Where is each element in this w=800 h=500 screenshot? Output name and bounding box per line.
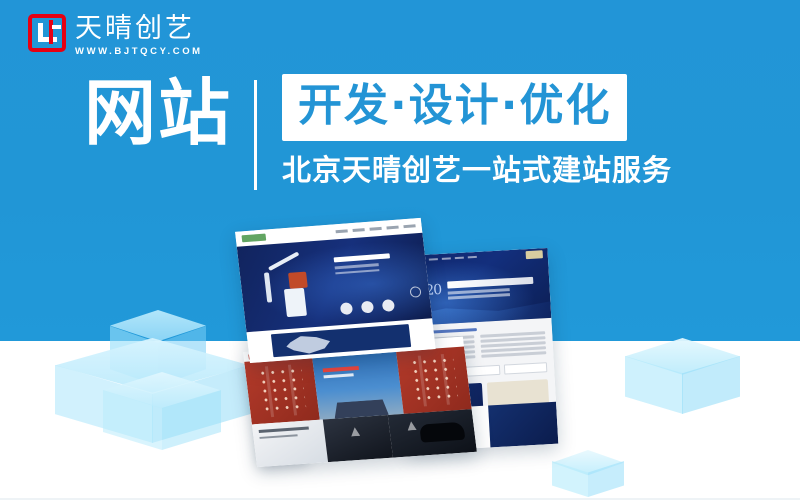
banner-canvas: 天晴创艺 WWW.BJTQCY.COM 网站 开发·设计·优化 北京天晴创艺一站… bbox=[0, 0, 800, 500]
mockup-robot-hero bbox=[237, 233, 432, 332]
tqcy-logo-mark-icon bbox=[28, 14, 66, 52]
headline-boxed-badge: 开发·设计·优化 bbox=[282, 74, 627, 141]
glass-cube-small bbox=[552, 450, 624, 500]
headline-right-column: 开发·设计·优化 北京天晴创艺一站式建站服务 bbox=[282, 74, 672, 187]
brand-name-cn: 天晴创艺 bbox=[75, 14, 203, 44]
headline-subtitle: 北京天晴创艺一站式建站服务 bbox=[282, 153, 672, 187]
brand-logo-text: 天晴创艺 WWW.BJTQCY.COM bbox=[75, 14, 203, 58]
headline-divider bbox=[254, 80, 257, 190]
headline-block: 网站 开发·设计·优化 北京天晴创艺一站式建站服务 bbox=[84, 74, 672, 190]
headline-boxed-text: 开发·设计·优化 bbox=[298, 80, 611, 132]
brand-logo[interactable]: 天晴创艺 WWW.BJTQCY.COM bbox=[28, 14, 203, 58]
headline-main-text: 网站 bbox=[84, 74, 232, 152]
glass-cube-left-front bbox=[103, 372, 221, 477]
brand-website-url: WWW.BJTQCY.COM bbox=[75, 46, 203, 58]
mockup-robot-industry-website bbox=[235, 218, 436, 363]
glass-cube-right bbox=[625, 338, 740, 438]
